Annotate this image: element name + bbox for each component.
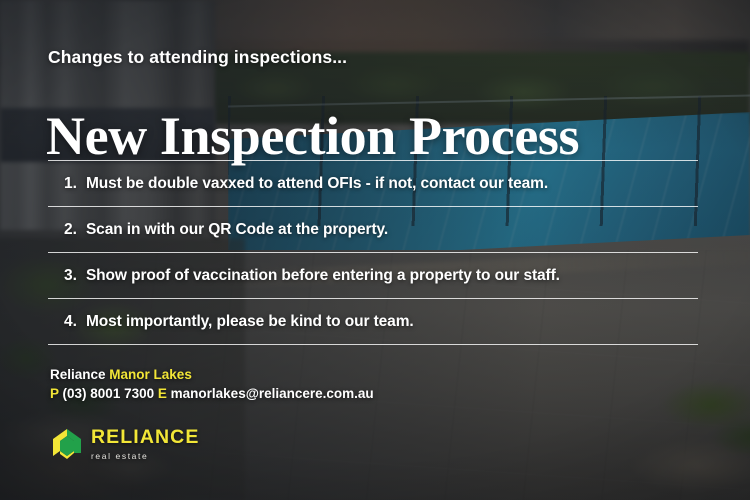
contact-brand: Reliance	[50, 367, 106, 382]
rule-number: 3.	[64, 267, 77, 285]
reliance-chevron-logo-icon	[52, 428, 82, 460]
rule-number: 1.	[64, 175, 77, 193]
contact-office: Manor Lakes	[109, 367, 192, 382]
rules-list: 1. Must be double vaxxed to attend OFIs …	[48, 160, 698, 345]
page-title: New Inspection Process	[46, 108, 579, 165]
inspection-process-graphic: Changes to attending inspections... New …	[0, 0, 750, 500]
contact-block: Reliance Manor Lakes P (03) 8001 7300 E …	[50, 365, 374, 403]
list-item: 1. Must be double vaxxed to attend OFIs …	[48, 161, 698, 206]
list-item: 3. Show proof of vaccination before ente…	[48, 253, 698, 298]
reliance-logo[interactable]: RELIANCE real estate	[52, 428, 199, 460]
email-address[interactable]: manorlakes@reliancere.com.au	[171, 386, 374, 401]
phone-number[interactable]: (03) 8001 7300	[63, 386, 155, 401]
rule-number: 2.	[64, 221, 77, 239]
logo-name: RELIANCE	[91, 428, 199, 448]
rule-text: Most importantly, please be kind to our …	[86, 313, 414, 331]
contact-phone-email-line: P (03) 8001 7300 E manorlakes@reliancere…	[50, 384, 374, 403]
eyebrow-text: Changes to attending inspections...	[48, 47, 347, 68]
content-layer: Changes to attending inspections... New …	[0, 0, 750, 500]
rule-text: Show proof of vaccination before enterin…	[86, 267, 560, 285]
logo-wordmark: RELIANCE real estate	[91, 428, 199, 460]
phone-label: P	[50, 386, 59, 401]
list-item: 4. Most importantly, please be kind to o…	[48, 299, 698, 344]
list-item: 2. Scan in with our QR Code at the prope…	[48, 207, 698, 252]
rule-divider	[48, 344, 698, 345]
logo-tagline: real estate	[91, 452, 199, 461]
email-label: E	[158, 386, 167, 401]
rule-text: Must be double vaxxed to attend OFIs - i…	[86, 175, 548, 193]
rule-text: Scan in with our QR Code at the property…	[86, 221, 388, 239]
rule-number: 4.	[64, 313, 77, 331]
contact-office-line: Reliance Manor Lakes	[50, 365, 374, 384]
